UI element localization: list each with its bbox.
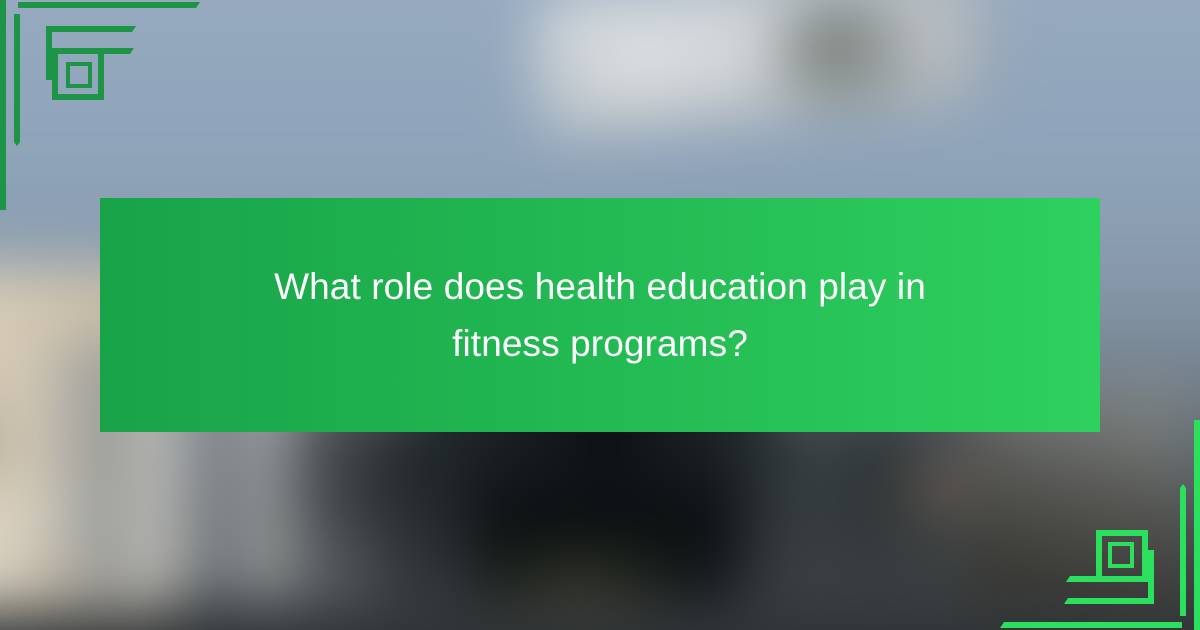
question-banner: What role does health education play in …	[100, 198, 1100, 432]
background-warm-highlight	[892, 450, 989, 526]
question-title: What role does health education play in …	[250, 258, 950, 373]
question-card: What role does health education play in …	[0, 0, 1200, 630]
background-structure-shadow	[773, 0, 924, 115]
background-olive-highlight	[470, 547, 686, 612]
